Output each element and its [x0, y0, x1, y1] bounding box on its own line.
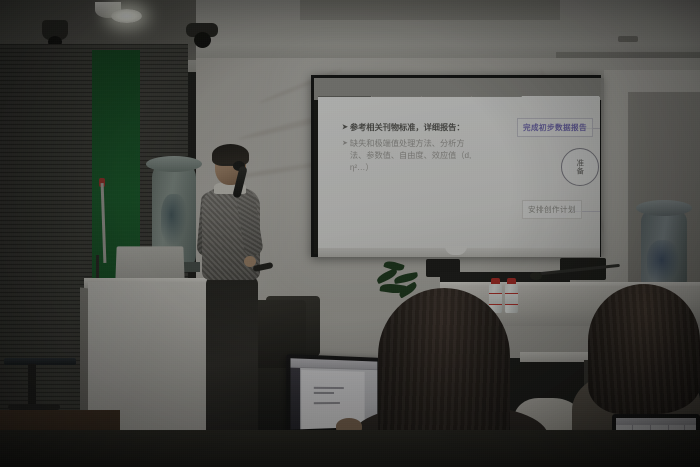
screen-surface: Part 1 Part 2 Part 3 Part 4 创作之前做过的事儿 ➤ … [318, 96, 600, 248]
ceiling-light-icon [111, 9, 142, 23]
vase-painting [161, 194, 187, 246]
boom-microphone-head [530, 272, 542, 280]
floor [0, 430, 700, 467]
laptop-1-dock [290, 368, 300, 430]
presenter-laptop[interactable] [115, 246, 184, 282]
vase-painting-right [647, 240, 679, 284]
tab-part-2[interactable]: Part 2 [372, 96, 422, 97]
slide-circle-badge: 准备 [561, 148, 599, 186]
slide-title: 创作之前做过的事儿 [522, 96, 600, 97]
side-table-top [4, 358, 76, 365]
bottle-cap-icon [491, 278, 500, 284]
bullet-arrow-icon-2: ➤ [342, 138, 348, 174]
bottle-label-2 [505, 293, 518, 305]
tab-part-1[interactable]: Part 1 [318, 96, 372, 97]
presentation-slide: Part 1 Part 2 Part 3 Part 4 创作之前做过的事儿 ➤ … [318, 96, 600, 248]
water-bottle-2 [505, 283, 518, 313]
slide-bullet-2: ➤ 缺失和极端值处理方法、分析方法、参数值、自由度、效应值（d, η²…） [342, 138, 480, 174]
slide-chip-creation-plan: 安排创作计划 [522, 200, 582, 219]
slide-bullet-list: ➤ 参考相关刊物标准，详细报告： ➤ 缺失和极端值处理方法、分析方法、参数值、自… [342, 122, 480, 179]
tab-part-4[interactable]: Part 4 [472, 96, 522, 97]
audience-member-2 [588, 284, 700, 414]
bottle-cap-icon-2 [507, 278, 516, 284]
slide-chip-data-report: 完成初步数据报告 [517, 118, 593, 137]
laptop-2-spreadsheet-header [616, 418, 696, 425]
slide-bullet-1-text: 参考相关刊物标准，详细报告： [350, 122, 465, 134]
bottle-label [489, 293, 502, 305]
slide-circle-label: 准备 [576, 159, 584, 175]
slide-bullet-1: ➤ 参考相关刊物标准，详细报告： [342, 122, 480, 134]
slide-tabbar: Part 1 Part 2 Part 3 Part 4 创作之前做过的事儿 [318, 96, 600, 97]
laptop-1-app-toolbar [290, 358, 377, 370]
side-table-post [28, 364, 36, 406]
security-camera-right-lens-icon [194, 32, 211, 48]
ceiling-recess [300, 0, 560, 20]
conference-room-photo: Part 1 Part 2 Part 3 Part 4 创作之前做过的事儿 ➤ … [0, 0, 700, 467]
tab-part-3[interactable]: Part 3 [422, 96, 472, 97]
porcelain-vase-right [641, 206, 687, 292]
slide-bullet-2-text: 缺失和极端值处理方法、分析方法、参数值、自由度、效应值（d, η²…） [350, 138, 480, 174]
presenter-legs [206, 276, 258, 448]
bullet-arrow-icon: ➤ [342, 122, 348, 134]
projection-screen: Part 1 Part 2 Part 3 Part 4 创作之前做过的事儿 ➤ … [311, 75, 601, 257]
ceiling-vent-icon [618, 36, 638, 42]
